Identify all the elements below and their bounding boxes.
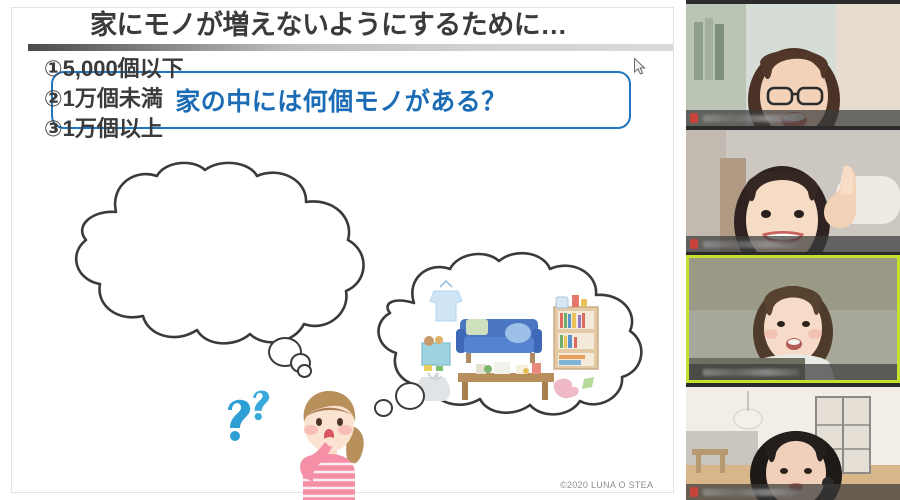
participant-1-namebar [686, 110, 900, 126]
participant-1-name-label [703, 115, 799, 122]
thought-bubble-small-3 [297, 364, 312, 378]
participant-video-panel [686, 0, 900, 500]
video-feed-3 [689, 258, 897, 380]
participant-3-namebar [689, 364, 897, 380]
mouse-cursor-icon [634, 58, 647, 76]
participant-4-name-label [703, 489, 799, 496]
thought-bubble-small-5 [374, 399, 393, 417]
participant-2-namebar [686, 236, 900, 252]
answers-thought-cloud [58, 160, 388, 350]
video-tile-participant-2[interactable] [686, 130, 900, 252]
microphone-muted-icon [690, 239, 698, 249]
participant-3-image [689, 258, 897, 380]
answer-option-3: ③1万個以上 [44, 114, 284, 144]
answer-option-2: ②1万個未満 [44, 84, 284, 114]
participant-3-name-label [703, 369, 799, 376]
microphone-muted-icon [690, 487, 698, 497]
microphone-muted-icon [690, 113, 698, 123]
copyright-notice: ©2020 LUNA O STEA [560, 480, 653, 490]
thought-bubble-small-4 [395, 382, 425, 410]
answer-options: ①5,000個以下 ②1万個未満 ③1万個以上 [44, 44, 284, 154]
participant-4-namebar [686, 484, 900, 500]
participant-2-image [686, 130, 900, 252]
participant-2-name-label [703, 241, 799, 248]
thinking-person-illustration [283, 382, 375, 500]
video-tile-participant-3[interactable] [686, 255, 900, 383]
video-feed-1 [686, 4, 900, 126]
screen-share-meeting-window: 家にモノが増えないようにするために… 家の中には何個モノがある？ ①5,000個… [0, 0, 900, 500]
shared-slide: 家にモノが増えないようにするために… 家の中には何個モノがある？ ①5,000個… [0, 0, 686, 500]
video-tile-participant-1[interactable] [686, 4, 900, 126]
participant-1-image [686, 4, 900, 126]
page-title: 家にモノが増えないようにするために… [90, 6, 610, 44]
video-tile-participant-4[interactable] [686, 387, 900, 500]
question-marks-illustration [218, 388, 288, 458]
video-feed-2 [686, 130, 900, 252]
answer-option-1: ①5,000個以下 [44, 54, 284, 84]
